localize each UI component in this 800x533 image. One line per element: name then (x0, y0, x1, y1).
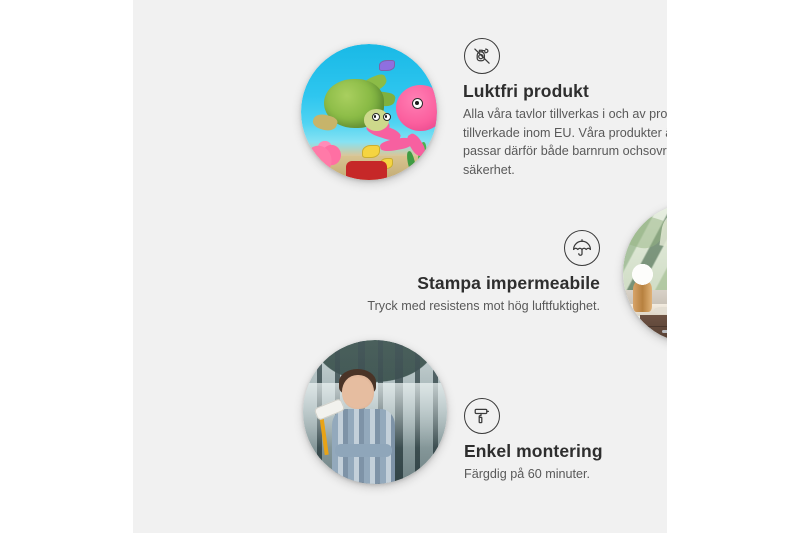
content-panel: Luktfri produkt Alla våra tavlor tillver… (133, 0, 667, 533)
underwater-illustration (301, 44, 437, 180)
feature-odourless-body: Alla våra tavlor tillverkas i och av pro… (463, 105, 667, 180)
feature-easy-mounting-icon-wrap (464, 398, 667, 434)
feature-easy-mounting-body: Färgdig på 60 minuter. (464, 465, 667, 484)
umbrella-icon (564, 230, 600, 266)
feature-waterproof-title: Stampa impermeabile (313, 273, 600, 294)
feature-waterproof-body: Tryck med resistens mot hög luftfuktighe… (313, 297, 600, 316)
paint-roller-icon (464, 398, 500, 434)
feature-easy-mounting-title: Enkel montering (464, 441, 667, 462)
feature-easy-mounting: Enkel montering Färgdig på 60 minuter. (464, 398, 667, 484)
feature-odourless-title: Luktfri produkt (463, 81, 667, 102)
feature-waterproof: Stampa impermeabile Tryck med resistens … (313, 230, 600, 316)
feature-odourless: Luktfri produkt Alla våra tavlor tillver… (463, 38, 667, 180)
photo-bathroom-tropical-wallpaper (623, 203, 667, 343)
feature-waterproof-icon-wrap (313, 230, 600, 266)
no-odour-spray-bottle-icon (464, 38, 500, 74)
feature-odourless-icon-wrap (463, 38, 667, 74)
photo-underwater-kids-mural (301, 44, 437, 180)
forest-illustration (303, 340, 447, 484)
photo-woman-paint-roller-forest (303, 340, 447, 484)
bathroom-illustration (623, 203, 667, 343)
promo-banner: Luktfri produkt Alla våra tavlor tillver… (0, 0, 800, 533)
